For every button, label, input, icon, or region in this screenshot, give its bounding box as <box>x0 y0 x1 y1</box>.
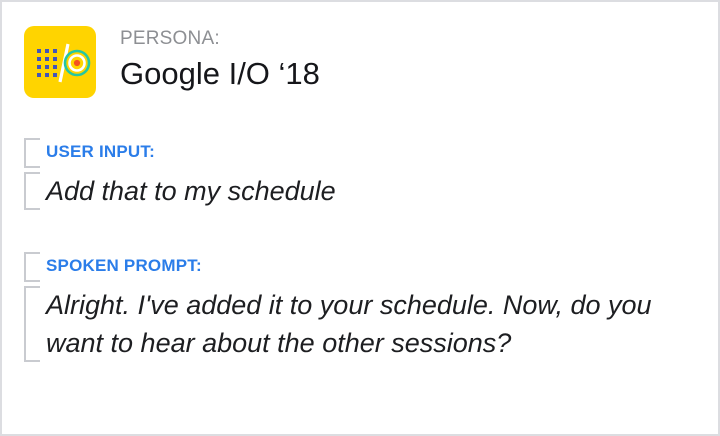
persona-header: PERSONA: Google I/O ‘18 <box>24 26 320 98</box>
spoken-prompt-text: Alright. I've added it to your schedule.… <box>46 286 686 362</box>
section-user-input: USER INPUT: Add that to my schedule <box>24 138 336 210</box>
user-input-label-row: USER INPUT: <box>24 138 336 168</box>
bracket-icon <box>24 252 40 282</box>
user-input-label: USER INPUT: <box>46 138 336 166</box>
user-input-body-row: Add that to my schedule <box>24 172 336 210</box>
persona-name: Google I/O ‘18 <box>120 54 320 94</box>
bracket-icon <box>24 286 40 362</box>
bracket-icon <box>24 172 40 210</box>
section-spoken-prompt: SPOKEN PROMPT: Alright. I've added it to… <box>24 252 686 362</box>
persona-label: PERSONA: <box>120 27 320 51</box>
spoken-prompt-label-row: SPOKEN PROMPT: <box>24 252 686 282</box>
bracket-icon <box>24 138 40 168</box>
spoken-prompt-body-row: Alright. I've added it to your schedule.… <box>24 286 686 362</box>
spoken-prompt-label: SPOKEN PROMPT: <box>46 252 686 280</box>
google-io-logo-icon <box>24 26 96 98</box>
persona-dialogue-card: PERSONA: Google I/O ‘18 USER INPUT: Add … <box>0 0 720 436</box>
user-input-text: Add that to my schedule <box>46 172 336 210</box>
persona-text-block: PERSONA: Google I/O ‘18 <box>120 26 320 94</box>
